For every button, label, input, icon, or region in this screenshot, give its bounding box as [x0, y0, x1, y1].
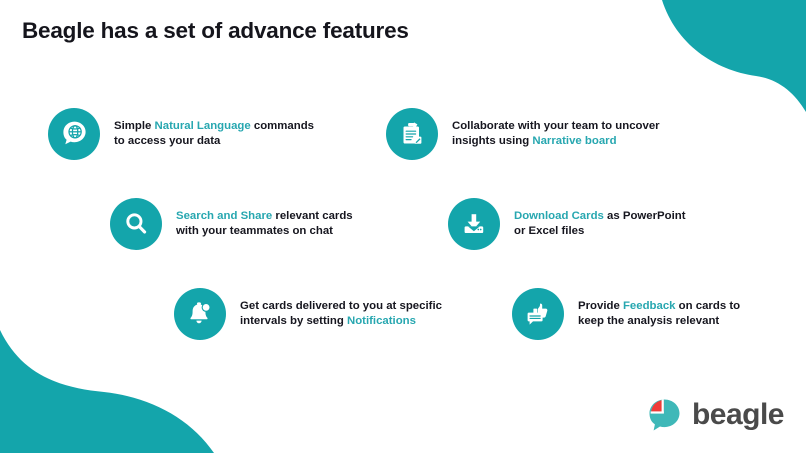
feature-text-line-1: Download Cards as PowerPoint: [514, 209, 686, 224]
text-highlight: Natural Language: [155, 120, 251, 132]
text-pre: intervals by setting: [240, 315, 347, 327]
feature-text: Provide Feedback on cards to keep the an…: [578, 299, 740, 328]
feature-text-line-2: with your teammates on chat: [176, 224, 353, 239]
feature-text: Search and Share relevant cards with you…: [176, 209, 353, 238]
text-highlight: Notifications: [347, 315, 416, 327]
feature-item-natural-language: Simple Natural Language commands to acce…: [48, 108, 314, 160]
feature-text: Download Cards as PowerPoint or Excel fi…: [514, 209, 686, 238]
text-pre: insights using: [452, 135, 532, 147]
clipboard-edit-icon: [386, 108, 438, 160]
text-highlight: Feedback: [623, 300, 676, 312]
feature-text: Get cards delivered to you at specific i…: [240, 299, 442, 328]
feature-text-line-1: Simple Natural Language commands: [114, 119, 314, 134]
feature-text-line-1: Get cards delivered to you at specific: [240, 299, 442, 314]
text-post: commands: [251, 120, 314, 132]
slide-canvas: Beagle has a set of advance features Sim…: [0, 0, 806, 453]
text-pre: Get cards delivered to you at specific: [240, 300, 442, 312]
beagle-logo: beagle: [644, 395, 784, 435]
feature-text-line-2: to access your data: [114, 134, 314, 149]
feature-text-line-2: intervals by setting Notifications: [240, 314, 442, 329]
text-pre: Simple: [114, 120, 155, 132]
feature-item-download-cards: Download Cards as PowerPoint or Excel fi…: [448, 198, 686, 250]
thumbs-up-feedback-icon: [512, 288, 564, 340]
text-pre: Provide: [578, 300, 623, 312]
text-pre: to access your data: [114, 135, 220, 147]
feature-text-line-2: keep the analysis relevant: [578, 314, 740, 329]
magnifier-search-icon: [110, 198, 162, 250]
feature-item-narrative-board: Collaborate with your team to uncover in…: [386, 108, 660, 160]
feature-text: Simple Natural Language commands to acce…: [114, 119, 314, 148]
text-pre: with your teammates on chat: [176, 225, 333, 237]
text-post: on cards to: [676, 300, 741, 312]
download-tray-icon: [448, 198, 500, 250]
feature-text-line-1: Search and Share relevant cards: [176, 209, 353, 224]
logo-wordmark: beagle: [692, 400, 784, 430]
text-pre: or Excel files: [514, 225, 584, 237]
feature-item-notifications: Get cards delivered to you at specific i…: [174, 288, 442, 340]
text-post: as PowerPoint: [604, 210, 686, 222]
feature-text-line-2: insights using Narrative board: [452, 134, 660, 149]
text-highlight: Search and Share: [176, 210, 272, 222]
text-highlight: Narrative board: [532, 135, 616, 147]
bell-notification-icon: [174, 288, 226, 340]
beagle-speech-bubble-logo: [644, 395, 684, 435]
page-title: Beagle has a set of advance features: [22, 18, 409, 44]
speech-bubble-globe-icon: [48, 108, 100, 160]
text-pre: Collaborate with your team to uncover: [452, 120, 660, 132]
feature-text-line-1: Collaborate with your team to uncover: [452, 119, 660, 134]
text-highlight: Download Cards: [514, 210, 604, 222]
feature-item-search-and-share: Search and Share relevant cards with you…: [110, 198, 353, 250]
feature-text: Collaborate with your team to uncover in…: [452, 119, 660, 148]
text-pre: keep the analysis relevant: [578, 315, 719, 327]
feature-text-line-2: or Excel files: [514, 224, 686, 239]
feature-text-line-1: Provide Feedback on cards to: [578, 299, 740, 314]
text-post: relevant cards: [272, 210, 352, 222]
feature-item-feedback: Provide Feedback on cards to keep the an…: [512, 288, 740, 340]
